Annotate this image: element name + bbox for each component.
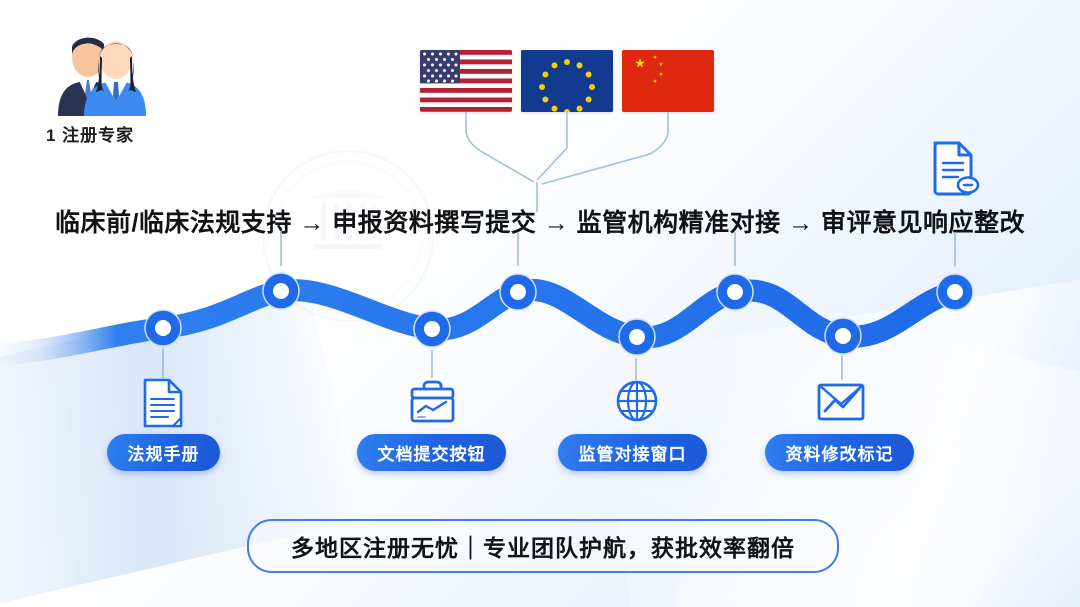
node-6: [717, 274, 753, 310]
step-pill-revision-mark[interactable]: 资料修改标记: [765, 434, 914, 471]
node-2: [263, 273, 299, 309]
flag-china: [622, 50, 714, 112]
step-pill-document-submit[interactable]: 文档提交按钮: [357, 434, 506, 471]
envelope-chart-icon: [817, 383, 865, 421]
step-pill-regulator-window[interactable]: 监管对接窗口: [558, 434, 707, 471]
flag-eu: [521, 50, 613, 112]
flag-usa: [420, 50, 512, 112]
node-5: [619, 319, 655, 355]
node-1: [145, 310, 181, 346]
briefcase-chart-icon: [409, 380, 456, 424]
node-connectors-up: [281, 232, 955, 266]
node-4: [500, 274, 536, 310]
bottom-banner: 多地区注册无忧｜专业团队护航，获批效率翻倍: [247, 519, 839, 573]
people-expert-icon: [44, 30, 152, 116]
node-3: [414, 311, 450, 347]
step-pill-regulatory-handbook[interactable]: 法规手册: [107, 434, 220, 471]
globe-icon: [615, 379, 659, 423]
document-edit-icon: [930, 140, 980, 198]
node-connectors-down: [163, 348, 842, 380]
node-8: [937, 274, 973, 310]
expert-count-label: 1 注册专家: [46, 121, 134, 146]
document-lines-icon: [142, 378, 184, 428]
node-7: [825, 318, 861, 354]
infographic-canvas: · · · · · · 1 注册专家: [0, 0, 1080, 607]
flag-connector-lines: [400, 108, 720, 216]
